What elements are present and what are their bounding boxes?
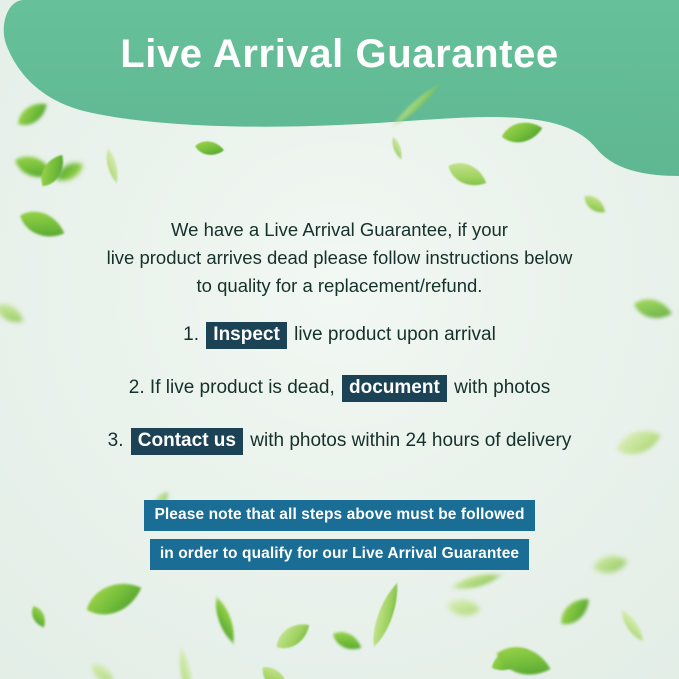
live-arrival-guarantee-poster: Live Arrival Guarantee We have a Live Ar… bbox=[0, 0, 679, 679]
intro-paragraph: We have a Live Arrival Guarantee, if you… bbox=[60, 216, 619, 300]
step-text-before: If live product is dead, bbox=[150, 377, 335, 398]
note-bar-line-1: Please note that all steps above must be… bbox=[144, 500, 534, 531]
step-text-after: live product upon arrival bbox=[294, 324, 496, 345]
content-area: We have a Live Arrival Guarantee, if you… bbox=[0, 0, 679, 679]
note-row-1: Please note that all steps above must be… bbox=[0, 500, 679, 531]
status-badge: Contact us bbox=[131, 428, 243, 455]
list-item: 3. Contact us with photos within 24 hour… bbox=[0, 426, 679, 456]
step-number: 2. bbox=[129, 377, 145, 398]
list-item: 2. If live product is dead, document wit… bbox=[0, 373, 679, 403]
intro-line-2: live product arrives dead please follow … bbox=[60, 244, 619, 272]
step-number: 1. bbox=[183, 324, 199, 345]
note-bar-line-2: in order to qualify for our Live Arrival… bbox=[150, 539, 529, 570]
note-callout: Please note that all steps above must be… bbox=[0, 500, 679, 578]
status-badge: Inspect bbox=[206, 322, 287, 349]
note-row-2: in order to qualify for our Live Arrival… bbox=[0, 539, 679, 570]
intro-line-3: to quality for a replacement/refund. bbox=[60, 272, 619, 300]
step-text-after: with photos bbox=[454, 377, 550, 398]
status-badge: document bbox=[342, 375, 447, 402]
intro-line-1: We have a Live Arrival Guarantee, if you… bbox=[60, 216, 619, 244]
step-text-after: with photos within 24 hours of delivery bbox=[250, 430, 571, 451]
steps-list: 1. Inspect live product upon arrival 2. … bbox=[0, 320, 679, 479]
list-item: 1. Inspect live product upon arrival bbox=[0, 320, 679, 350]
step-number: 3. bbox=[108, 430, 124, 451]
